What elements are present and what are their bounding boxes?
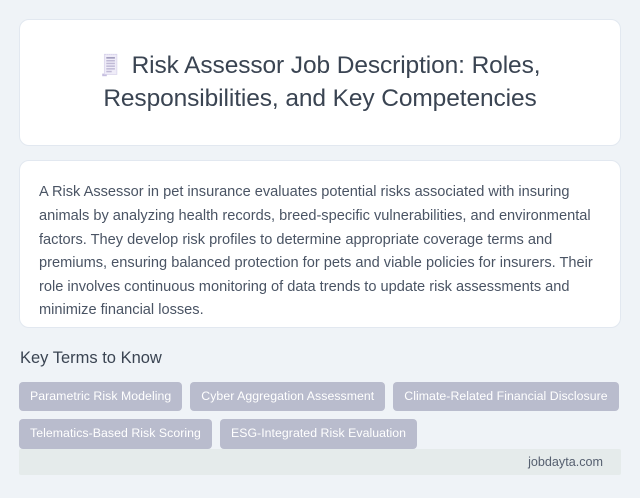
description-text: A Risk Assessor in pet insurance evaluat… [39,181,598,323]
key-term-chip[interactable]: Climate-Related Financial Disclosure [393,382,618,411]
key-terms-heading: Key Terms to Know [20,349,621,369]
page-title-text: Risk Assessor Job Description: Roles, Re… [103,52,540,111]
page-root: Risk Assessor Job Description: Roles, Re… [0,0,640,498]
receipt-document-icon [100,53,119,77]
key-term-chip[interactable]: Parametric Risk Modeling [19,382,182,411]
footer-bar: jobdayta.com [19,449,621,475]
key-terms-chip-list: Parametric Risk Modeling Cyber Aggregati… [19,382,621,449]
key-term-chip[interactable]: ESG-Integrated Risk Evaluation [220,419,417,448]
footer-site-label: jobdayta.com [528,456,603,469]
page-title: Risk Assessor Job Description: Roles, Re… [46,50,594,115]
key-term-chip[interactable]: Cyber Aggregation Assessment [190,382,385,411]
description-card: A Risk Assessor in pet insurance evaluat… [19,160,621,328]
title-card: Risk Assessor Job Description: Roles, Re… [19,19,621,146]
key-term-chip[interactable]: Telematics-Based Risk Scoring [19,419,212,448]
